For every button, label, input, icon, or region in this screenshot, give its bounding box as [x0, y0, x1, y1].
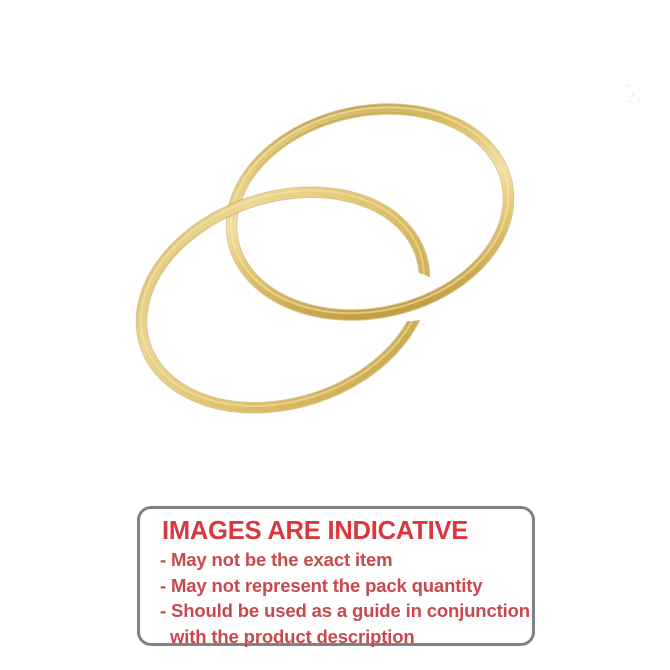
notice-line-4: with the product description [170, 624, 518, 650]
notice-heading: IMAGES ARE INDICATIVE [162, 516, 518, 546]
o-ring-illustration [0, 0, 670, 480]
product-image-page: IMAGES ARE INDICATIVE - May not be the e… [0, 0, 670, 670]
product-photo [0, 0, 670, 480]
back-right-o-ring [212, 82, 528, 340]
notice-line-1: - May not be the exact item [160, 547, 518, 573]
images-are-indicative-notice: IMAGES ARE INDICATIVE - May not be the e… [137, 506, 535, 646]
notice-line-2: - May not represent the pack quantity [160, 573, 518, 599]
notice-line-3: - Should be used as a guide in conjuncti… [160, 598, 518, 624]
